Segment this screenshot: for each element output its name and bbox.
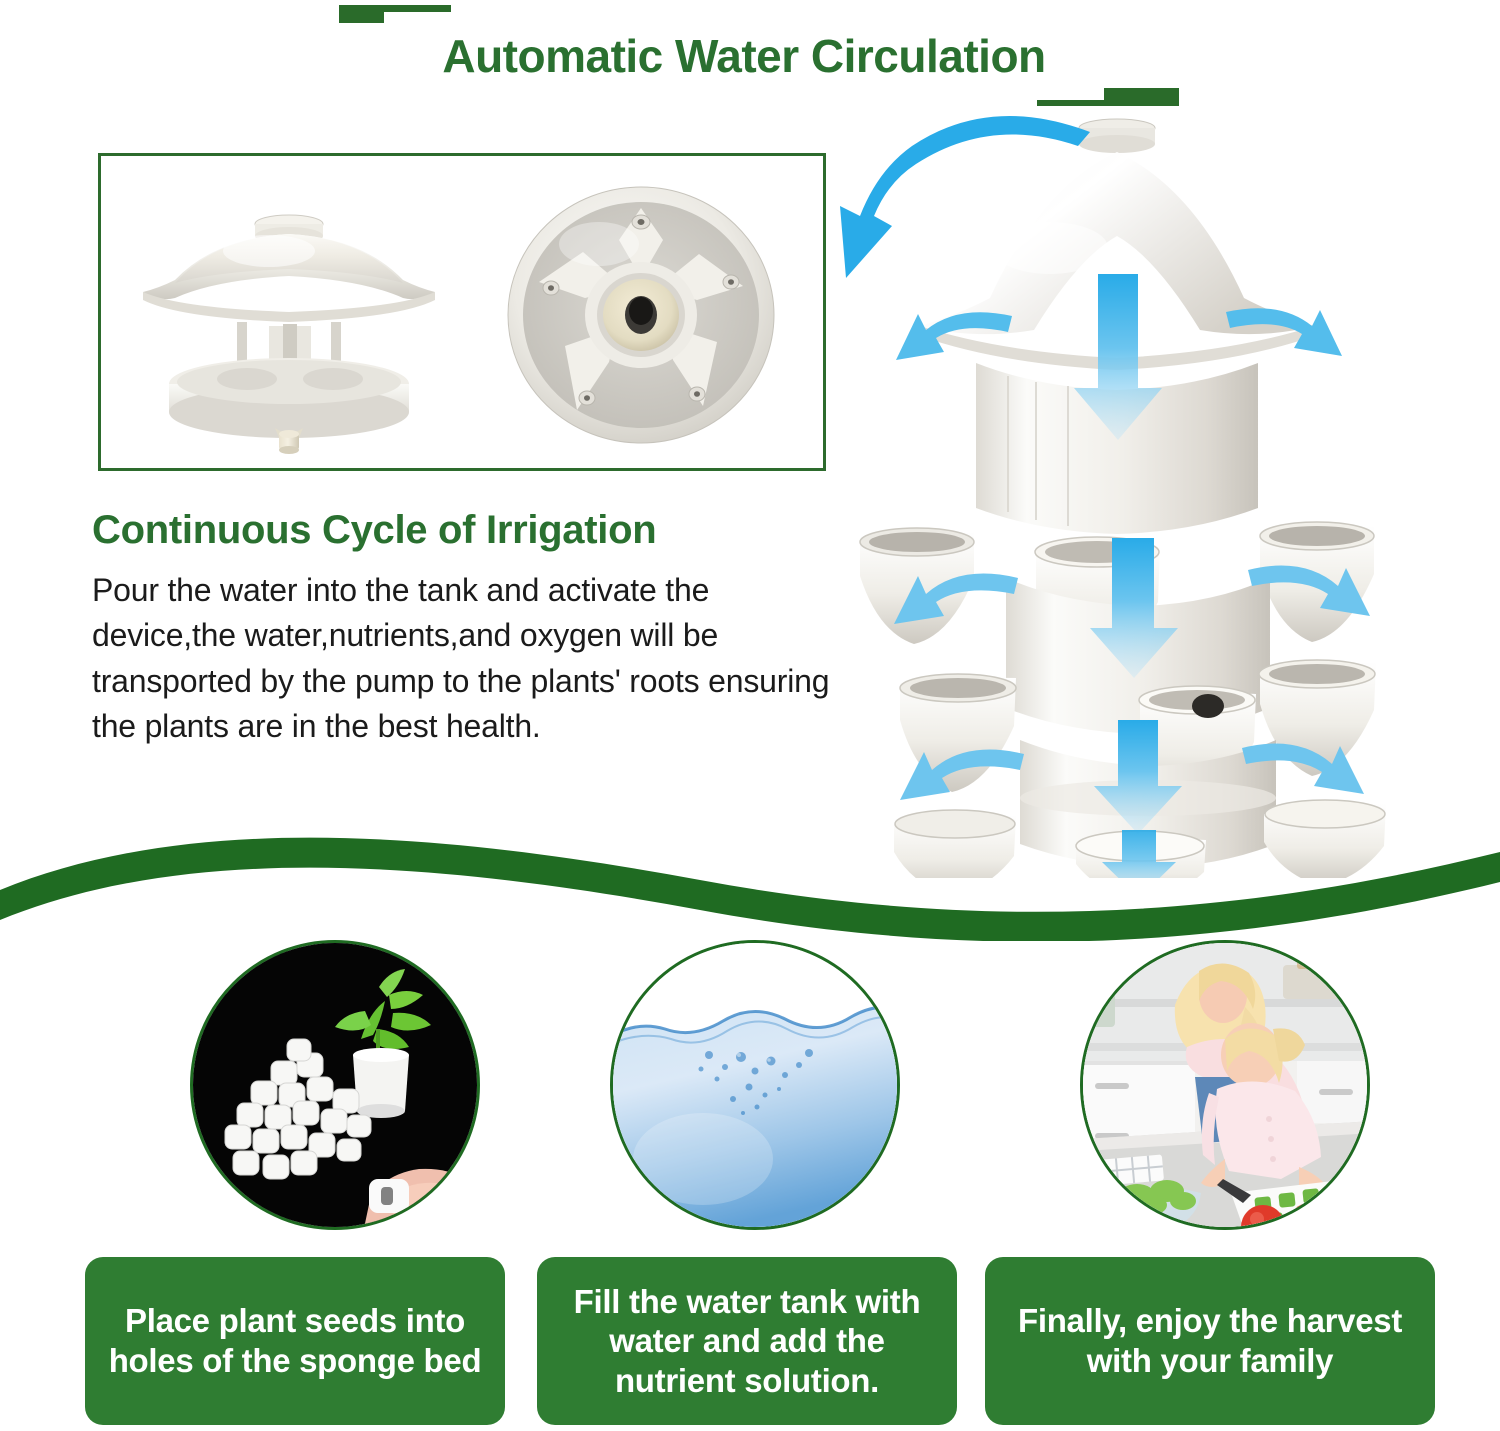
feature-body: Pour the water into the tank and activat… xyxy=(92,568,852,750)
feature-heading: Continuous Cycle of Irrigation xyxy=(92,508,852,552)
step-caption-1: Place plant seeds into holes of the spon… xyxy=(99,1301,491,1380)
pump-cap-bottom-view xyxy=(491,178,791,452)
product-photo-box xyxy=(98,153,826,471)
header-banner: Automatic Water Circulation xyxy=(0,0,1500,120)
sponge-cubes-and-seedling-photo xyxy=(190,940,480,1230)
step-caption-3: Finally, enjoy the harvest with your fam… xyxy=(999,1301,1421,1380)
page-title: Automatic Water Circulation xyxy=(384,12,1104,100)
steps-section: Place plant seeds into holes of the spon… xyxy=(0,930,1500,1431)
step-caption-2: Fill the water tank with water and add t… xyxy=(551,1282,943,1401)
step-column-3: Finally, enjoy the harvest with your fam… xyxy=(985,930,1445,1431)
hydroponic-tower-illustration xyxy=(840,108,1500,878)
water-photo-svg xyxy=(613,943,900,1230)
step-column-2: Fill the water tank with water and add t… xyxy=(525,930,985,1431)
family-photo-svg xyxy=(1083,943,1370,1230)
infographic-page: Automatic Water Circulation xyxy=(0,0,1500,1431)
step-card-3: Finally, enjoy the harvest with your fam… xyxy=(985,1257,1435,1425)
family-preparing-salad-photo xyxy=(1080,940,1370,1230)
step-card-2: Fill the water tank with water and add t… xyxy=(537,1257,957,1425)
feature-text-block: Continuous Cycle of Irrigation Pour the … xyxy=(92,508,852,750)
water-surface-with-bubbles-photo xyxy=(610,940,900,1230)
pump-cap-side-view xyxy=(119,176,459,454)
step-column-1: Place plant seeds into holes of the spon… xyxy=(85,930,545,1431)
step-card-1: Place plant seeds into holes of the spon… xyxy=(85,1257,505,1425)
sponge-photo-svg xyxy=(193,943,480,1230)
tower-svg xyxy=(840,108,1500,878)
green-wave-divider xyxy=(0,826,1500,941)
